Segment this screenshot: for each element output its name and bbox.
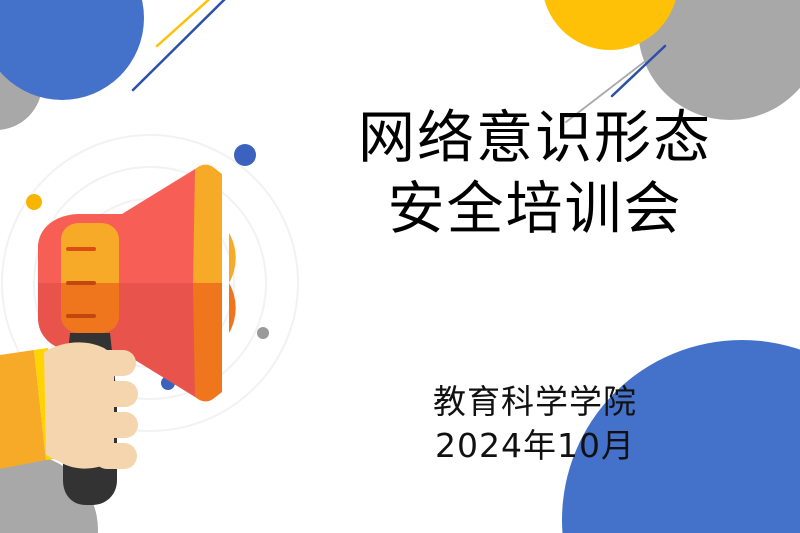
poster-title: 网络意识形态 安全培训会 xyxy=(300,103,770,245)
subtitle-organization: 教育科学学院 xyxy=(340,380,730,424)
subtitle-date: 2024年10月 xyxy=(340,424,730,468)
poster-subtitle: 教育科学学院 2024年10月 xyxy=(340,380,730,468)
title-line-2: 安全培训会 xyxy=(300,174,770,245)
poster-canvas: 网络意识形态 安全培训会 教育科学学院 2024年10月 xyxy=(0,0,800,533)
text-layer: 网络意识形态 安全培训会 教育科学学院 2024年10月 xyxy=(0,0,800,533)
title-line-1: 网络意识形态 xyxy=(300,103,770,174)
